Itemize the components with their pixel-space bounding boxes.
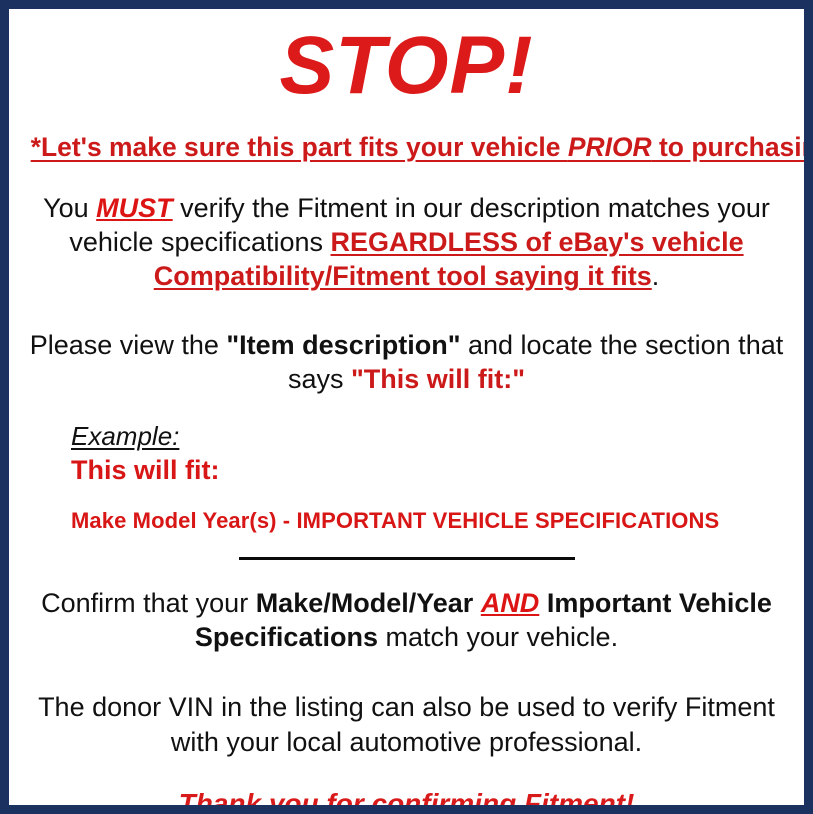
and-emphasis: AND (481, 588, 540, 618)
paragraph-description: Please view the "Item description" and l… (23, 328, 790, 397)
paragraph-must: You MUST verify the Fitment in our descr… (23, 191, 790, 294)
example-fit-heading: This will fit: (71, 454, 790, 486)
example-spec-line: Make Model Year(s) - IMPORTANT VEHICLE S… (71, 508, 790, 534)
confirm-seg5: match your vehicle. (378, 622, 618, 652)
must-emphasis: MUST (96, 193, 173, 223)
closing-message: Thank you for confirming Fitment! (23, 787, 790, 814)
tagline-emphasis: PRIOR (568, 132, 652, 162)
paragraph-vin: The donor VIN in the listing can also be… (23, 690, 790, 759)
confirm-seg1: Confirm that your (41, 588, 256, 618)
tagline-before: *Let's make sure this part fits your veh… (31, 132, 568, 162)
this-will-fit-emphasis: "This will fit:" (351, 364, 525, 394)
must-seg1: You (43, 193, 96, 223)
make-model-year-emphasis: Make/Model/Year (256, 588, 474, 618)
notice-content: STOP! *Let's make sure this part fits yo… (9, 9, 804, 814)
must-seg5: . (652, 261, 660, 291)
page-title: STOP! (23, 25, 790, 107)
item-description-emphasis: "Item description" (226, 330, 460, 360)
divider-container (23, 557, 790, 560)
fitment-notice-card: STOP! *Let's make sure this part fits yo… (0, 0, 813, 814)
tagline: *Let's make sure this part fits your veh… (31, 133, 783, 163)
example-label: Example: (71, 422, 790, 452)
paragraph-confirm: Confirm that your Make/Model/Year AND Im… (23, 586, 790, 655)
example-block: Example: This will fit: Make Model Year(… (23, 422, 790, 535)
tagline-after: to purchasing* (652, 132, 813, 162)
desc-seg1: Please view the (30, 330, 227, 360)
section-divider (239, 557, 575, 560)
